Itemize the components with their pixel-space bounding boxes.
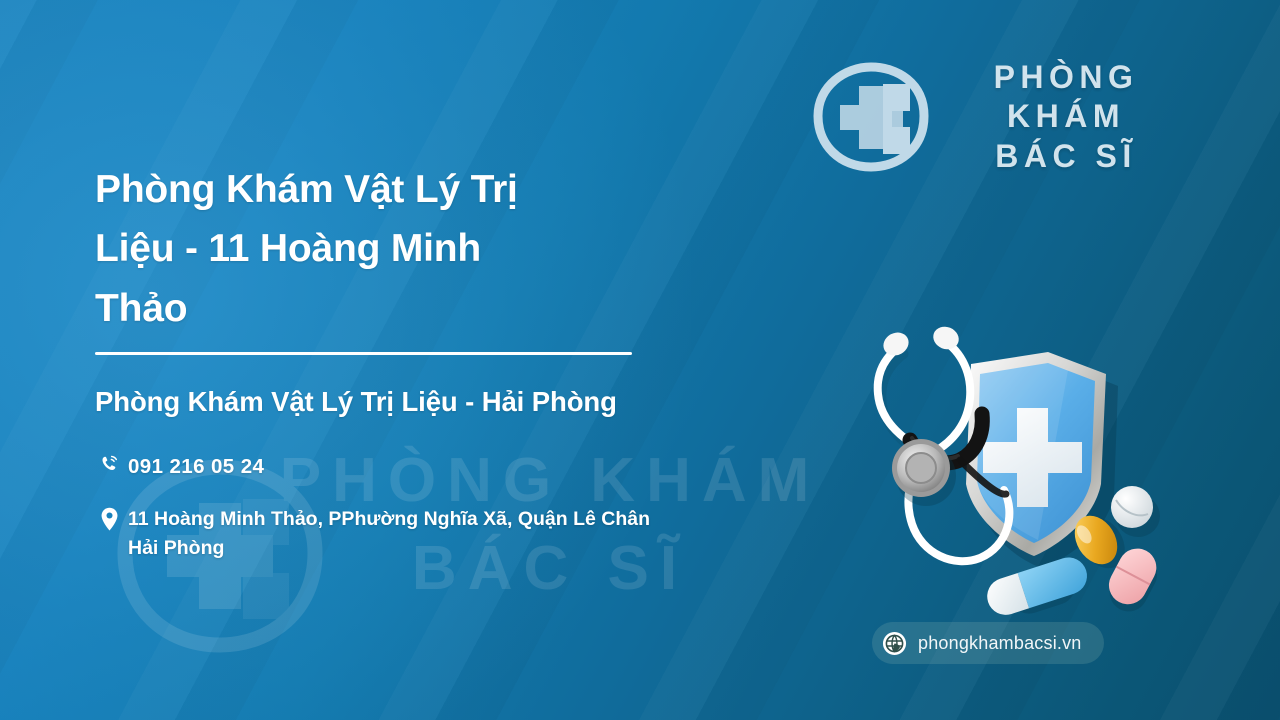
page-subtitle: Phòng Khám Vật Lý Trị Liệu - Hải Phòng (95, 386, 617, 418)
address-line-2: Hải Phòng (128, 537, 224, 559)
brand-text: PHÒNG KHÁM BÁC SĨ (940, 58, 1192, 177)
location-pin-icon (96, 505, 122, 531)
title-divider (95, 352, 632, 355)
title-line-2: Liệu - 11 Hoàng Minh (95, 219, 655, 278)
contact-address: 11 Hoàng Minh Thảo, PPhường Nghĩa Xã, Qu… (122, 505, 650, 564)
contact-info: 091 216 05 24 11 Hoàng Minh Thảo, PPhườn… (96, 452, 856, 563)
clinic-banner: PHÒNG KHÁM BÁC SĨ Phòng Khám Vật Lý Trị … (0, 0, 1280, 720)
contact-address-row[interactable]: 11 Hoàng Minh Thảo, PPhường Nghĩa Xã, Qu… (96, 505, 856, 564)
title-line-3: Thảo (95, 279, 655, 338)
brand-line-1: PHÒNG KHÁM (940, 58, 1192, 137)
title-line-1: Phòng Khám Vật Lý Trị (95, 160, 655, 219)
website-badge[interactable]: phongkhambacsi.vn (872, 622, 1104, 664)
page-title: Phòng Khám Vật Lý Trị Liệu - 11 Hoàng Mi… (95, 160, 655, 338)
globe-icon (882, 631, 907, 656)
website-url-label: phongkhambacsi.vn (918, 633, 1082, 654)
phone-icon (96, 452, 122, 474)
brand-logo: PHÒNG KHÁM BÁC SĨ (812, 58, 1192, 176)
contact-phone-row[interactable]: 091 216 05 24 (96, 452, 856, 483)
shield-stethoscope-pills-illustration (838, 318, 1178, 618)
brand-line-2: BÁC SĨ (940, 137, 1192, 177)
address-line-1: 11 Hoàng Minh Thảo, PPhường Nghĩa Xã, Qu… (128, 508, 650, 530)
medical-cross-logo-icon (812, 61, 930, 173)
contact-phone-number: 091 216 05 24 (122, 452, 264, 483)
background-glow (0, 0, 691, 720)
